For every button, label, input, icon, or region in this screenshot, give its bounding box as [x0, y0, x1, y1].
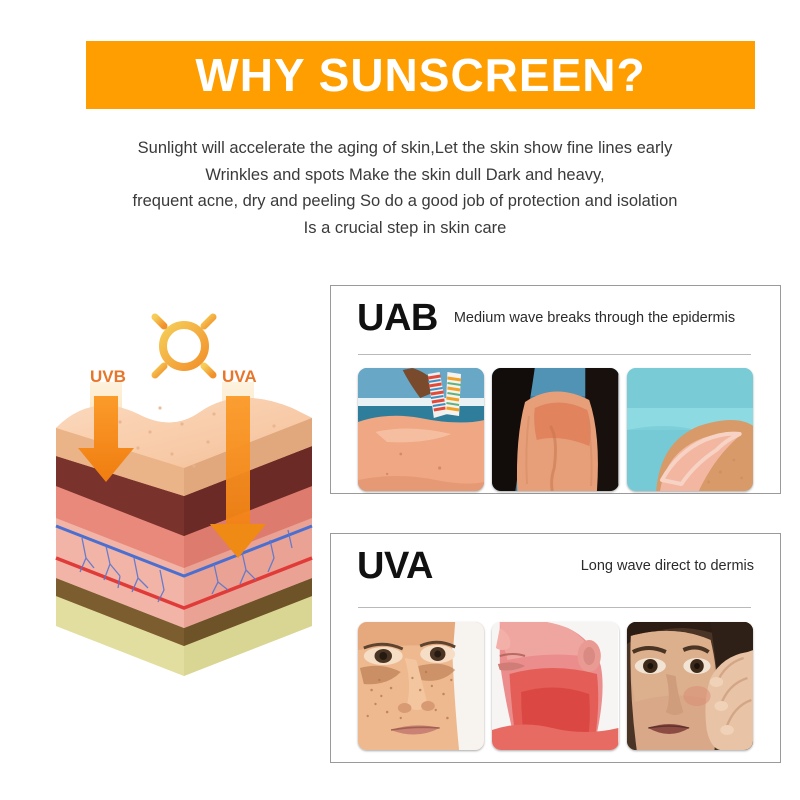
card-uab: UAB Medium wave breaks through the epide… — [330, 285, 781, 494]
intro-line: Is a crucial step in skin care — [60, 215, 750, 242]
photo-freckled-pigmented-face — [358, 622, 484, 750]
photo-red-sunburned-neck — [492, 622, 618, 750]
skin-layers-diagram: UVB UVA — [42, 296, 327, 696]
card-uab-divider — [358, 354, 751, 355]
card-uab-photo-row — [358, 368, 753, 491]
card-uva-description: Long wave direct to dermis — [581, 559, 754, 574]
card-uva: UVA Long wave direct to dermis — [330, 533, 781, 763]
intro-line: Wrinkles and spots Make the skin dull Da… — [60, 162, 750, 189]
uvb-label: UVB — [90, 367, 126, 386]
intro-paragraph: Sunlight will accelerate the aging of sk… — [60, 135, 750, 241]
card-uab-code: UAB — [357, 299, 438, 337]
sun-icon — [144, 306, 224, 386]
photo-peeling-sunburned-shoulder — [627, 368, 753, 491]
photo-woman-touching-cheek — [627, 622, 753, 750]
card-uva-photo-row — [358, 622, 753, 750]
card-uab-description: Medium wave breaks through the epidermis — [454, 311, 735, 326]
photo-sunburned-shoulder-with-towel — [358, 368, 484, 491]
card-uab-header: UAB Medium wave breaks through the epide… — [357, 294, 754, 342]
page-title-banner: WHY SUNSCREEN? — [86, 41, 755, 109]
page-title: WHY SUNSCREEN? — [195, 52, 645, 98]
uva-label: UVA — [222, 367, 257, 386]
card-uva-code: UVA — [357, 547, 433, 585]
intro-line: frequent acne, dry and peeling So do a g… — [60, 188, 750, 215]
card-uva-header: UVA Long wave direct to dermis — [357, 542, 754, 590]
photo-sunburned-back — [492, 368, 618, 491]
card-uva-divider — [358, 607, 751, 608]
intro-line: Sunlight will accelerate the aging of sk… — [60, 135, 750, 162]
